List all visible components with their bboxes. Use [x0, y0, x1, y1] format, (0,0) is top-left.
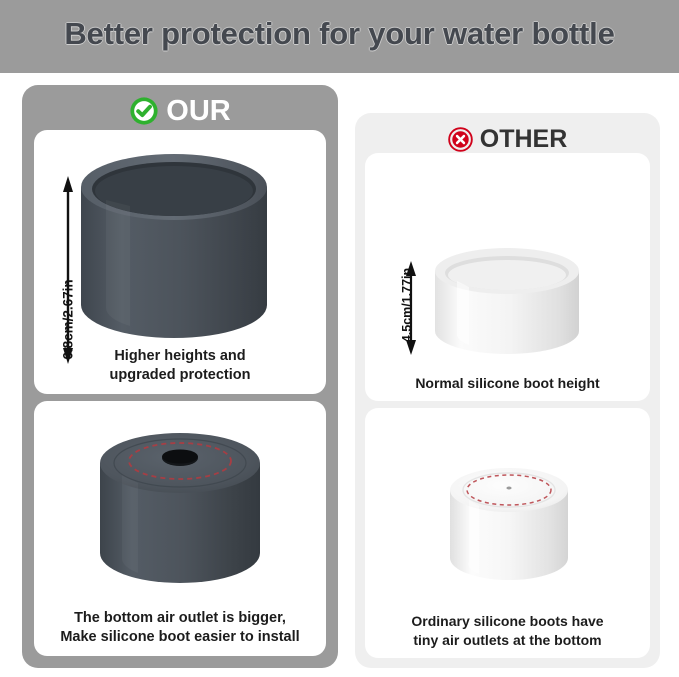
card-other-air-outlet: Ordinary silicone boots have tiny air ou… [365, 408, 650, 658]
header-banner: Better protection for your water bottle [0, 0, 679, 73]
dimension-label-other: 4.5cm/1.77in [400, 245, 414, 365]
panel-our-label-text: OUR [166, 95, 230, 128]
page-title: Better protection for your water bottle [0, 16, 679, 52]
caption-other-height: Normal silicone boot height [371, 374, 644, 392]
caption-line-1: Normal silicone boot height [371, 374, 644, 392]
card-other-height: 4.5cm/1.77in Normal silicone boot height [365, 153, 650, 401]
panel-other-label-text: OTHER [480, 125, 568, 154]
caption-line-2: Make silicone boot easier to install [40, 628, 320, 647]
caption-our-height: Higher heights and upgraded protection [40, 347, 320, 385]
check-circle-icon [129, 96, 159, 126]
panel-our-label: OUR [22, 93, 338, 129]
caption-other-air-outlet: Ordinary silicone boots have tiny air ou… [371, 612, 644, 649]
panel-other-label: OTHER [355, 121, 660, 157]
card-our-height: 6.8cm/2.67in Higher heights and upgraded… [34, 130, 326, 394]
caption-line-2: tiny air outlets at the bottom [371, 631, 644, 649]
caption-line-1: Ordinary silicone boots have [371, 612, 644, 630]
caption-line-1: Higher heights and [40, 347, 320, 366]
caption-line-1: The bottom air outlet is bigger, [40, 609, 320, 628]
panel-other: OTHER [355, 113, 660, 668]
card-our-air-outlet: The bottom air outlet is bigger, Make si… [34, 401, 326, 656]
caption-our-air-outlet: The bottom air outlet is bigger, Make si… [40, 609, 320, 647]
panel-our: OUR [22, 85, 338, 668]
caption-line-2: upgraded protection [40, 366, 320, 385]
x-circle-icon [448, 127, 473, 152]
comparison-infographic: Better protection for your water bottle … [0, 0, 679, 677]
